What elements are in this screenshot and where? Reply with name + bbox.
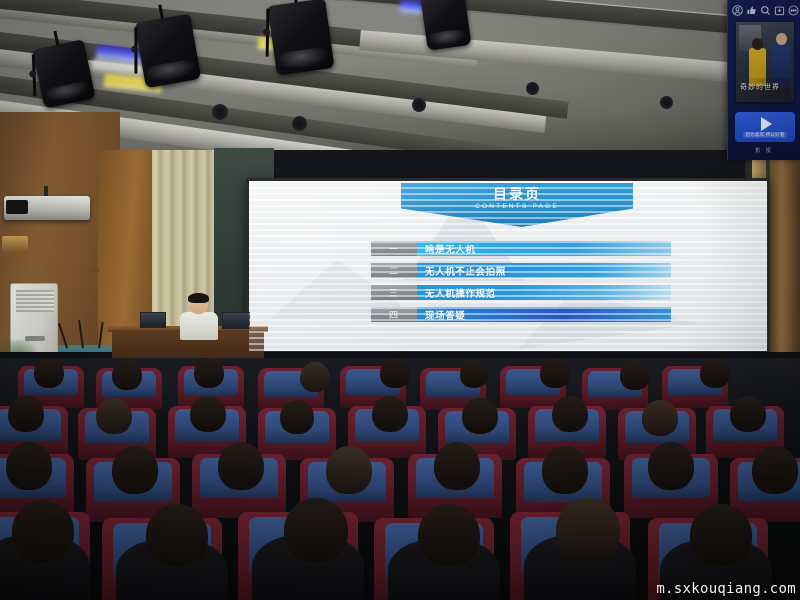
slide-title-en: CONTENTS PAGE: [475, 203, 559, 210]
audience-seating: [0, 358, 800, 600]
audience-head: [300, 362, 330, 392]
audience-head: [730, 396, 766, 432]
audience-head: [620, 360, 650, 390]
audience-head: [190, 396, 226, 432]
audience-head: [284, 498, 348, 562]
app-footer-label: 影 视: [728, 147, 800, 154]
laptop: [222, 312, 250, 329]
toc-item: 二 无人机不止会拍照: [371, 263, 671, 278]
audience-head: [542, 446, 588, 494]
toc-item: 一 啥是无人机: [371, 241, 671, 256]
audience-head: [434, 442, 480, 490]
audience-head: [648, 442, 694, 490]
toc-item-bar: 无人机不止会拍照: [417, 263, 671, 278]
app-poster-thumbnail[interactable]: 奇妙的世界: [736, 22, 794, 102]
audience-head: [552, 396, 588, 432]
audience-head: [6, 442, 52, 490]
audience-head: [146, 504, 208, 566]
slide-contents-list: 一 啥是无人机 二 无人机不止会拍照 三 无人机操作规范: [371, 241, 671, 329]
download-icon[interactable]: [774, 5, 785, 16]
audience-head: [540, 358, 570, 388]
toc-item-number: 四: [371, 307, 417, 322]
audience-head: [12, 500, 74, 562]
downlight: [526, 82, 539, 95]
audience-head: [8, 396, 44, 432]
photo-scene: 目录页 CONTENTS PAGE 一 啥是无人机 二 无人机不止会拍照: [0, 0, 800, 600]
floating-app-overlay[interactable]: 奇妙的世界 因为喜欢 所以好看 影 视: [727, 0, 800, 160]
play-triangle-icon: [761, 117, 772, 131]
audience-head: [642, 400, 678, 436]
poster-figure-woman-head: [752, 38, 763, 50]
ac-grill: [16, 290, 54, 312]
ceiling: [0, 0, 800, 150]
user-avatar-icon[interactable]: [732, 5, 743, 16]
audience-head: [326, 446, 372, 494]
toc-item-number: 一: [371, 241, 417, 256]
poster-title: 奇妙的世界: [740, 78, 790, 96]
audience-head: [380, 358, 410, 388]
audience-head: [218, 442, 264, 490]
toc-item: 三 无人机操作规范: [371, 285, 671, 300]
audience-head: [700, 358, 730, 388]
audience-head: [752, 446, 798, 494]
audience-head: [112, 446, 158, 494]
projector-lens: [6, 200, 28, 214]
presenter-hair: [188, 293, 209, 303]
audience-head: [34, 358, 64, 388]
toc-item-bar: 无人机操作规范: [417, 285, 671, 300]
app-icon-toolbar: [728, 0, 800, 19]
toc-item-bar: 啥是无人机: [417, 241, 671, 256]
stage-light-fixture: [420, 0, 471, 51]
toc-item-number: 二: [371, 263, 417, 278]
presenter: [180, 294, 218, 338]
audience-head: [418, 504, 480, 566]
audience-head: [556, 498, 620, 562]
audience-head: [462, 398, 498, 434]
audience-head: [372, 396, 408, 432]
toc-item-label: 无人机不止会拍照: [425, 264, 506, 278]
play-button-sublabel: 因为喜欢 所以好看: [743, 132, 786, 138]
wall-sconce: [2, 236, 28, 252]
site-watermark: m.sxkouqiang.com: [656, 581, 796, 597]
downlight: [660, 96, 673, 109]
audience-head: [690, 504, 752, 566]
thumbs-up-icon[interactable]: [746, 5, 757, 16]
downlight: [212, 104, 228, 120]
downlight: [412, 98, 426, 112]
projection-screen: 目录页 CONTENTS PAGE 一 啥是无人机 二 无人机不止会拍照: [246, 178, 770, 354]
audience-head: [194, 358, 224, 388]
play-button[interactable]: 因为喜欢 所以好看: [735, 112, 795, 142]
search-icon[interactable]: [760, 5, 771, 16]
slide-surface: 目录页 CONTENTS PAGE 一 啥是无人机 二 无人机不止会拍照: [249, 181, 767, 351]
slide-title-cn: 目录页: [493, 186, 541, 202]
toc-item-label: 无人机操作规范: [425, 286, 496, 300]
laptop: [140, 312, 166, 328]
slide-title-banner: 目录页 CONTENTS PAGE: [401, 183, 633, 227]
presenter-body: [180, 312, 218, 340]
toc-item-label: 啥是无人机: [425, 242, 476, 256]
stage-light-fixture: [267, 0, 334, 76]
downlight: [292, 116, 307, 131]
more-icon[interactable]: [788, 5, 799, 16]
audience-head: [460, 360, 488, 388]
audience-head: [280, 400, 314, 434]
stage-light-fixture: [135, 14, 202, 89]
poster-figure-man-head: [776, 33, 787, 45]
toc-item-label: 现场答疑: [425, 308, 465, 322]
audience-head: [112, 360, 142, 390]
toc-item-bar: 现场答疑: [417, 307, 671, 322]
toc-item-number: 三: [371, 285, 417, 300]
toc-item: 四 现场答疑: [371, 307, 671, 322]
audience-head: [96, 398, 132, 434]
